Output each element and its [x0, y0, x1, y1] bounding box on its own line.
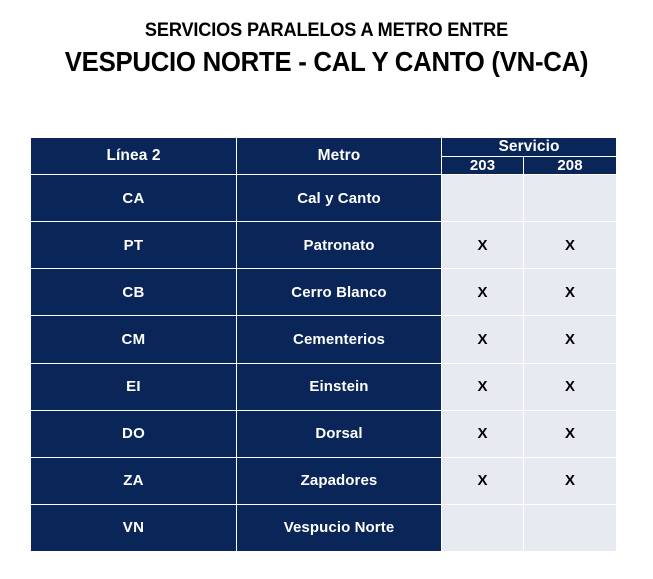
table-header-row-1: Línea 2 Metro Servicio: [31, 138, 617, 157]
row-station: Cerro Blanco: [237, 269, 442, 316]
column-header-service-208: 208: [524, 157, 617, 175]
row-station: Dorsal: [237, 410, 442, 457]
row-code: ZA: [31, 457, 237, 504]
row-mark-203: [442, 504, 524, 551]
table-row: CA Cal y Canto: [31, 175, 617, 222]
page-title: SERVICIOS PARALELOS A METRO ENTRE VESPUC…: [0, 18, 653, 79]
row-station: Cementerios: [237, 316, 442, 363]
table-body: CA Cal y Canto PT Patronato X X CB Cerro…: [31, 175, 617, 552]
row-code: CA: [31, 175, 237, 222]
row-station: Zapadores: [237, 457, 442, 504]
title-line-2: VESPUCIO NORTE - CAL Y CANTO (VN-CA): [26, 45, 627, 79]
column-header-linea-2: Línea 2: [31, 138, 237, 175]
row-code: EI: [31, 363, 237, 410]
row-mark-203: X: [442, 457, 524, 504]
row-mark-203: X: [442, 222, 524, 269]
table-row: CM Cementerios X X: [31, 316, 617, 363]
row-mark-208: X: [524, 316, 617, 363]
row-station: Patronato: [237, 222, 442, 269]
row-station: Einstein: [237, 363, 442, 410]
row-mark-203: [442, 175, 524, 222]
column-header-service-203: 203: [442, 157, 524, 175]
table-row: CB Cerro Blanco X X: [31, 269, 617, 316]
row-mark-203: X: [442, 363, 524, 410]
column-header-servicio: Servicio: [442, 138, 617, 157]
row-mark-208: X: [524, 269, 617, 316]
row-code: VN: [31, 504, 237, 551]
services-table: Línea 2 Metro Servicio 203 208 CA Cal y …: [30, 137, 617, 552]
row-mark-203: X: [442, 410, 524, 457]
table-row: EI Einstein X X: [31, 363, 617, 410]
row-mark-208: [524, 504, 617, 551]
row-mark-208: X: [524, 457, 617, 504]
title-line-1: SERVICIOS PARALELOS A METRO ENTRE: [23, 18, 630, 42]
table-row: VN Vespucio Norte: [31, 504, 617, 551]
row-code: PT: [31, 222, 237, 269]
row-mark-208: X: [524, 222, 617, 269]
row-code: CB: [31, 269, 237, 316]
row-mark-203: X: [442, 316, 524, 363]
row-mark-203: X: [442, 269, 524, 316]
table-row: ZA Zapadores X X: [31, 457, 617, 504]
row-station: Cal y Canto: [237, 175, 442, 222]
row-mark-208: [524, 175, 617, 222]
row-station: Vespucio Norte: [237, 504, 442, 551]
table-head: Línea 2 Metro Servicio 203 208: [31, 138, 617, 175]
services-table-container: Línea 2 Metro Servicio 203 208 CA Cal y …: [30, 137, 616, 552]
table-row: DO Dorsal X X: [31, 410, 617, 457]
column-header-metro: Metro: [237, 138, 442, 175]
row-mark-208: X: [524, 410, 617, 457]
page-root: SERVICIOS PARALELOS A METRO ENTRE VESPUC…: [0, 0, 653, 579]
row-code: CM: [31, 316, 237, 363]
table-row: PT Patronato X X: [31, 222, 617, 269]
row-mark-208: X: [524, 363, 617, 410]
row-code: DO: [31, 410, 237, 457]
